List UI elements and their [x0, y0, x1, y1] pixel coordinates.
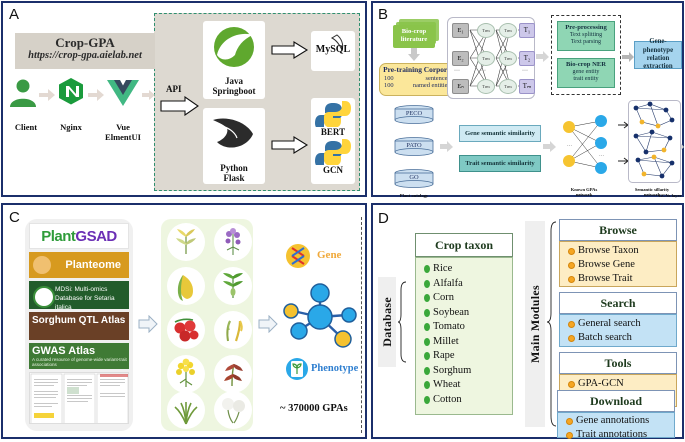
taxon-label: Cotton [433, 393, 462, 408]
module-item-label: Batch search [578, 331, 632, 345]
main-modules-label: Main Modules [525, 221, 545, 427]
flask-label: Flask [203, 173, 265, 183]
logo-planteome: Planteome [29, 252, 129, 278]
bert-input-ellipsis: ··· [454, 68, 460, 74]
panel-c: C PlantGSAD Planteome MDSi: Multi-omics … [1, 203, 367, 439]
corpora-title: Pre-training Corpora [380, 66, 454, 75]
module-header-tools: Tools [559, 352, 677, 374]
bullet-icon [566, 418, 573, 425]
api-arrow-icon [160, 96, 200, 116]
module-item-label: GPA-GCN [578, 377, 624, 391]
ner-title: Bio-crop NER [558, 61, 614, 69]
python-icon [311, 139, 355, 165]
module-body-search: General search Batch search [559, 314, 677, 347]
crop-icon-wheat [167, 391, 205, 429]
taxon-label: Wheat [433, 378, 460, 393]
bert-output-1: T₂ [519, 51, 535, 66]
preprocessing-item-1: Text parsing [558, 39, 614, 46]
preprocessing-box: Pre-processing Text splitting Text parsi… [557, 21, 615, 51]
module-item-label: Browse Taxon [578, 244, 639, 258]
module-item[interactable]: Browse Gene [568, 258, 676, 272]
taxon-label: Soybean [433, 306, 469, 321]
bert-trm-0-0: Trm [477, 23, 495, 38]
models-arrow-icon [271, 136, 309, 154]
relation-line1: Gene-phenotype [635, 38, 681, 55]
trait-similarity-box: Trait semantic similarity [459, 155, 541, 172]
gpa-count-label: ~ 370000 GPAs [280, 403, 348, 414]
svg-text:···: ··· [567, 144, 572, 149]
gcn-layers-icon [628, 100, 682, 184]
bert-input-1: E₂ [452, 51, 469, 66]
bullet-icon [568, 335, 575, 342]
panel-c-divider [361, 217, 362, 433]
bert-label: BERT [311, 127, 355, 137]
plantgsad-part2: GSAD [75, 228, 116, 245]
logo-mdsi: MDSi: Multi-omics Database for Setaria i… [29, 281, 129, 309]
flask-icon [203, 108, 265, 158]
gpa-network-graphic: ··· ··· [559, 113, 611, 185]
mdsi-line1: MDSi: Multi-omics [55, 285, 129, 294]
module-body-browse: Browse Taxon Browse Gene Browse Trait [559, 241, 677, 287]
bullet-icon [568, 248, 575, 255]
panel-d-label: D [378, 210, 389, 227]
logo-literature-papers [29, 372, 129, 424]
brand-url: https://crop-gpa.aielab.net [15, 50, 155, 62]
literature-line1: Bio-crop [393, 28, 435, 36]
bert-trm-1-2: Trm [499, 79, 517, 94]
bert-output-0: T₁ [519, 23, 535, 38]
crop-icon-corn [167, 267, 205, 305]
taxon-item[interactable]: Millet [424, 335, 512, 350]
database-label: Database [378, 277, 396, 367]
module-item-label: Browse Gene [578, 258, 635, 272]
preprocessing-title: Pre-processing [558, 24, 614, 32]
sorghum-qtl-text: Sorghum QTL Atlas [29, 312, 129, 326]
corpora-text-1: named entities [413, 82, 450, 90]
java-springboot-box: Java Springboot [203, 21, 265, 99]
mysql-arrow-icon [271, 41, 309, 59]
logo-plantgsad: PlantGSAD [29, 223, 129, 249]
modules-brace-icon [546, 221, 557, 427]
bullet-icon [424, 381, 430, 389]
panel-b-label: B [378, 6, 388, 23]
crops-arrow-icon [258, 315, 278, 333]
crop-icon-soybean [214, 267, 252, 305]
bert-trm-0-1: Trm [477, 51, 495, 66]
ner-item-1: trait entity [558, 76, 614, 83]
bullet-icon [424, 265, 430, 273]
bullet-icon [424, 323, 430, 331]
paper-thumbnails-icon [30, 373, 129, 424]
bert-architecture-panel: E₁ E₂ ··· Eₙ Trm Trm ··· Trm Trm Trm ···… [447, 17, 535, 99]
bullet-icon [568, 381, 575, 388]
gwas-line2: A curated resource of genome-wide varian… [29, 357, 129, 367]
module-item[interactable]: Gene annotations [566, 414, 674, 428]
mdsi-line2: Database for Setaria italica [55, 294, 129, 309]
gpa-network-icon [277, 281, 363, 353]
taxon-label: Millet [433, 335, 459, 350]
crop-icon-tomato [167, 311, 205, 349]
module-item[interactable]: General search [568, 317, 676, 331]
crop-icon-millet [214, 311, 252, 349]
relation-line2: relation extraction [635, 55, 681, 72]
bert-trm-ellipsis-1: ··· [502, 68, 508, 74]
panel-a-label: A [9, 6, 19, 23]
bert-trm-0-2: Trm [477, 79, 495, 94]
springboot-label: Springboot [203, 86, 265, 96]
sources-arrow-icon [138, 315, 158, 333]
gene-similarity-box: Gene semantic similarity [459, 125, 541, 142]
bullet-icon [568, 262, 575, 269]
bert-output-3: Tₘ [519, 79, 535, 94]
ontology-peco-label: PECO [391, 110, 437, 117]
crop-icon-rice [167, 223, 205, 261]
similarity-arrow-icon [543, 141, 557, 153]
corpora-count-0: 100 [384, 75, 394, 83]
taxon-item[interactable]: Tomato [424, 320, 512, 335]
spring-leaf-icon [203, 21, 265, 71]
ner-box: Bio-crop NER gene entity trait entity [557, 58, 615, 88]
crop-icon-sorghum [214, 355, 252, 393]
taxon-label: Alfalfa [433, 277, 463, 292]
bert-input-3: Eₙ [452, 79, 469, 94]
ontology-go-label: GO [391, 174, 437, 181]
brand-header: Crop-GPA https://crop-gpa.aielab.net [15, 33, 155, 69]
python-label: Python [203, 163, 265, 173]
bert-input-0: E₁ [452, 23, 469, 38]
plantgsad-part1: Plant [41, 228, 75, 245]
panel-c-label: C [9, 209, 20, 226]
java-label: Java [203, 76, 265, 86]
bert-to-nlp-arrow-icon [536, 51, 550, 63]
bullet-icon [566, 432, 573, 439]
taxon-label: Sorghum [433, 364, 471, 379]
svg-text:···: ··· [599, 154, 604, 159]
bert-output-ellipsis: ··· [522, 68, 528, 74]
module-item-label: Gene annotations [576, 414, 649, 428]
bert-trm-1-0: Trm [499, 23, 517, 38]
bert-trm-1-1: Trm [499, 51, 517, 66]
api-label: API [166, 84, 182, 94]
python-flask-box: Python Flask [203, 108, 265, 184]
chain-label-vue-2: ElmentUI [100, 133, 146, 142]
corpora-count-1: 100 [384, 82, 394, 90]
bullet-icon [424, 396, 430, 404]
relation-extraction-box: Gene-phenotype relation extraction [634, 41, 682, 69]
taxon-item[interactable]: Rice [424, 262, 512, 277]
crop-icon-rape [167, 355, 205, 393]
chain-label-nginx: Nginx [48, 123, 94, 132]
crop-taxon-list: Rice Alfalfa Corn Soybean Tomato Millet … [415, 257, 513, 415]
ontology-pato-label: PATO [391, 142, 437, 149]
gcn-label: GCN [311, 165, 355, 175]
logo-gwas-atlas: GWAS Atlas A curated resource of genome-… [29, 343, 129, 369]
plant-ontology-caption: Plant ontology [389, 193, 439, 198]
bullet-icon [568, 276, 575, 283]
ner-item-0: gene entity [558, 69, 614, 76]
crop-icon-alfalfa [214, 223, 252, 261]
bullet-icon [424, 280, 430, 288]
bullet-icon [424, 338, 430, 346]
phenotype-icon [285, 357, 309, 381]
bullet-icon [568, 321, 575, 328]
bullet-icon [424, 352, 430, 360]
taxon-label: Tomato [433, 320, 465, 335]
taxon-item[interactable]: Cotton [424, 393, 512, 408]
taxon-item[interactable]: Corn [424, 291, 512, 306]
taxon-item[interactable]: Soybean [424, 306, 512, 321]
database-brace-icon [397, 281, 407, 363]
taxon-item[interactable]: Sorghum [424, 364, 512, 379]
phenotype-label: Phenotype [311, 363, 358, 374]
gcn-layer-caption: GCNs layer [653, 193, 685, 198]
models-box: BERT GCN [311, 98, 355, 184]
figure-root: A Crop-GPA https://crop-gpa.aielab.net [0, 0, 685, 440]
chain-label-client: Client [3, 123, 49, 132]
python-icon [311, 101, 355, 127]
literature-box: Bio-crop literature [393, 25, 435, 48]
pretraining-corpora-box: Pre-training Corpora 100 sentences 100 n… [379, 63, 455, 96]
gwas-line1: GWAS Atlas [29, 343, 129, 357]
literature-down-arrow-icon [407, 48, 421, 62]
module-item[interactable]: GPA-GCN [568, 377, 676, 391]
module-item[interactable]: Browse Taxon [568, 244, 676, 258]
panel-a: A Crop-GPA https://crop-gpa.aielab.net [1, 1, 367, 197]
taxon-label: Corn [433, 291, 454, 306]
taxon-label: Rape [433, 349, 455, 364]
mysql-box: MySQL [311, 31, 355, 71]
bullet-icon [424, 309, 430, 317]
module-item[interactable]: Browse Trait [568, 272, 676, 286]
known-gpas-caption-2: network [555, 192, 613, 197]
literature-line2: literature [393, 36, 435, 44]
crop-icon-cotton [214, 391, 252, 429]
ontology-arrow-icon [440, 141, 454, 153]
taxon-item[interactable]: Alfalfa [424, 277, 512, 292]
module-header-download: Download [557, 390, 675, 412]
taxon-item[interactable]: Rape [424, 349, 512, 364]
brand-title: Crop-GPA [15, 36, 155, 50]
taxon-item[interactable]: Wheat [424, 378, 512, 393]
module-item-label: General search [578, 317, 641, 331]
chain-label-vue-1: Vue [100, 123, 146, 132]
preprocessing-item-0: Text splitting [558, 32, 614, 39]
module-body-download: Gene annotations Trait annotations [557, 412, 675, 438]
bert-trm-ellipsis-0: ··· [480, 68, 486, 74]
gene-icon [285, 243, 311, 269]
client-chain-icons [3, 73, 155, 123]
bullet-icon [424, 367, 430, 375]
crop-taxon-header: Crop taxon [415, 233, 513, 257]
gene-label: Gene [317, 249, 341, 261]
logo-sorghum-qtl: Sorghum QTL Atlas [29, 312, 129, 340]
taxon-label: Rice [433, 262, 452, 277]
module-header-search: Search [559, 292, 677, 314]
module-header-browse: Browse [559, 219, 677, 241]
module-item[interactable]: Batch search [568, 331, 676, 345]
module-item-label: Browse Trait [578, 272, 633, 286]
bullet-icon [424, 294, 430, 302]
mysql-label: MySQL [311, 45, 355, 55]
